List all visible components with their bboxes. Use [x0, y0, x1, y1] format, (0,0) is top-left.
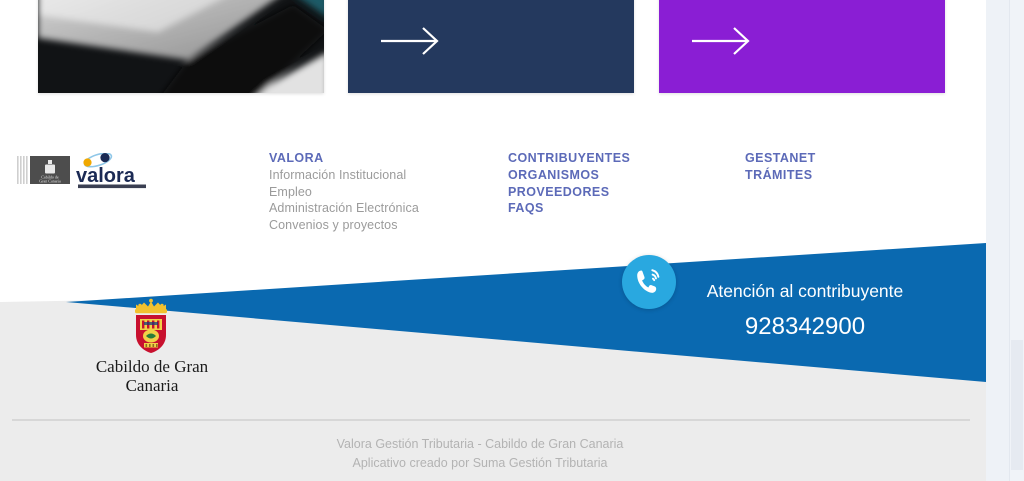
scrollbar-track[interactable]	[1009, 0, 1024, 481]
footer-column-valora: VALORA Información Institucional Empleo …	[269, 150, 489, 234]
footer-link-empleo[interactable]: Empleo	[269, 184, 489, 201]
promo-card-photo[interactable]	[38, 0, 324, 93]
promo-card-purple[interactable]	[659, 0, 945, 93]
valora-logo[interactable]: Cabildo de Gran Canaria valora	[16, 153, 150, 189]
footer-column-gestanet: GESTANET TRÁMITES	[745, 150, 945, 184]
cabildo-logo[interactable]: Cabildo de Gran Canaria	[92, 295, 212, 395]
scroll-gutter	[986, 0, 1024, 481]
contact-phone-number[interactable]: 928342900	[640, 312, 970, 342]
contact-label: Atención al contribuyente	[640, 280, 970, 302]
legal-line-1: Valora Gestión Tributaria - Cabildo de G…	[0, 435, 960, 454]
cabildo-logo-name: Cabildo de Gran Canaria	[92, 357, 212, 395]
legal-line-2: Aplicativo creado por Suma Gestión Tribu…	[0, 454, 960, 473]
footer-band: Cabildo de Gran Canaria Atención al cont…	[0, 240, 986, 481]
footer-link-faqs[interactable]: FAQS	[508, 200, 708, 217]
keyboard-photo	[38, 0, 324, 93]
footer-link-contribuyentes[interactable]: CONTRIBUYENTES	[508, 150, 708, 167]
footer-links: Cabildo de Gran Canaria valora VALORA In…	[0, 150, 986, 240]
footer-link-gestanet[interactable]: GESTANET	[745, 150, 945, 167]
page-content: Cabildo de Gran Canaria valora VALORA In…	[0, 0, 986, 481]
footer-link-administracion-electronica[interactable]: Administración Electrónica	[269, 200, 489, 217]
valora-logo-icon: Cabildo de Gran Canaria valora	[16, 153, 150, 189]
footer-link-organismos[interactable]: ORGANISMOS	[508, 167, 708, 184]
footer-column-contribuyentes: CONTRIBUYENTES ORGANISMOS PROVEEDORES FA…	[508, 150, 708, 217]
promo-card-navy[interactable]	[348, 0, 634, 93]
promo-cards	[0, 0, 986, 93]
footer-link-tramites[interactable]: TRÁMITES	[745, 167, 945, 184]
footer-link-valora[interactable]: VALORA	[269, 150, 489, 167]
footer-link-proveedores[interactable]: PROVEEDORES	[508, 184, 708, 201]
footer-link-convenios-y-proyectos[interactable]: Convenios y proyectos	[269, 217, 489, 234]
arrow-right-icon	[381, 27, 441, 55]
coat-of-arms-icon	[120, 295, 182, 357]
arrow-right-icon	[692, 27, 752, 55]
footer-link-informacion-institucional[interactable]: Información Institucional	[269, 167, 489, 184]
scrollbar-thumb[interactable]	[1011, 340, 1023, 470]
svg-text:valora: valora	[76, 165, 136, 187]
svg-text:Gran Canaria: Gran Canaria	[39, 179, 61, 184]
footer-divider	[12, 419, 970, 421]
legal-text: Valora Gestión Tributaria - Cabildo de G…	[0, 435, 960, 473]
cabildo-name-line1: Cabildo de	[96, 357, 170, 376]
